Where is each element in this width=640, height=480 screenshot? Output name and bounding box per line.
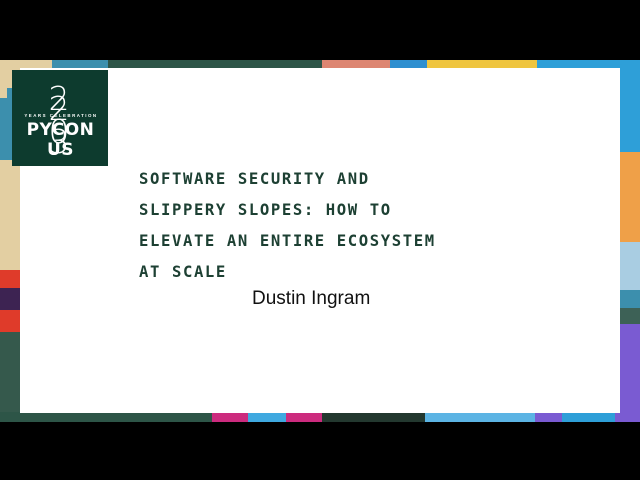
border-strip-segment <box>618 290 640 308</box>
slide-title: SOFTWARE SECURITY AND SLIPPERY SLOPES: H… <box>139 164 569 288</box>
border-strips-bottom <box>0 412 640 422</box>
border-strip-segment <box>562 412 615 422</box>
border-strip-segment <box>618 60 640 152</box>
border-strip-segment <box>286 412 322 422</box>
border-strip-segment <box>0 288 22 310</box>
border-strip-segment <box>322 412 425 422</box>
border-strip-segment <box>535 412 562 422</box>
border-strip-segment <box>248 412 286 422</box>
border-strips-right <box>618 60 640 422</box>
slide-frame: 2 0 YEARS CELEBRATION PYCON US 2 3 SOFTW… <box>0 60 640 422</box>
pycon-us-2023-logo: 2 0 YEARS CELEBRATION PYCON US 2 3 <box>12 70 108 166</box>
border-strip-segment <box>615 412 640 422</box>
border-strip-segment <box>618 152 640 242</box>
border-strip-segment <box>0 310 22 332</box>
video-player-stage: 2 0 YEARS CELEBRATION PYCON US 2 3 SOFTW… <box>0 0 640 480</box>
border-strip-segment <box>0 270 22 288</box>
border-strip-segment <box>618 324 640 422</box>
border-strip-segment <box>212 412 248 422</box>
border-strip-segment <box>0 160 22 270</box>
border-strip-segment <box>0 332 22 422</box>
border-strip-segment <box>0 412 212 422</box>
border-strip-segment <box>618 308 640 324</box>
border-strip-segment <box>425 412 535 422</box>
logo-year-bottom: 2 3 <box>12 92 108 158</box>
slide-speaker-name: Dustin Ingram <box>252 289 370 308</box>
border-strip-segment <box>618 242 640 290</box>
